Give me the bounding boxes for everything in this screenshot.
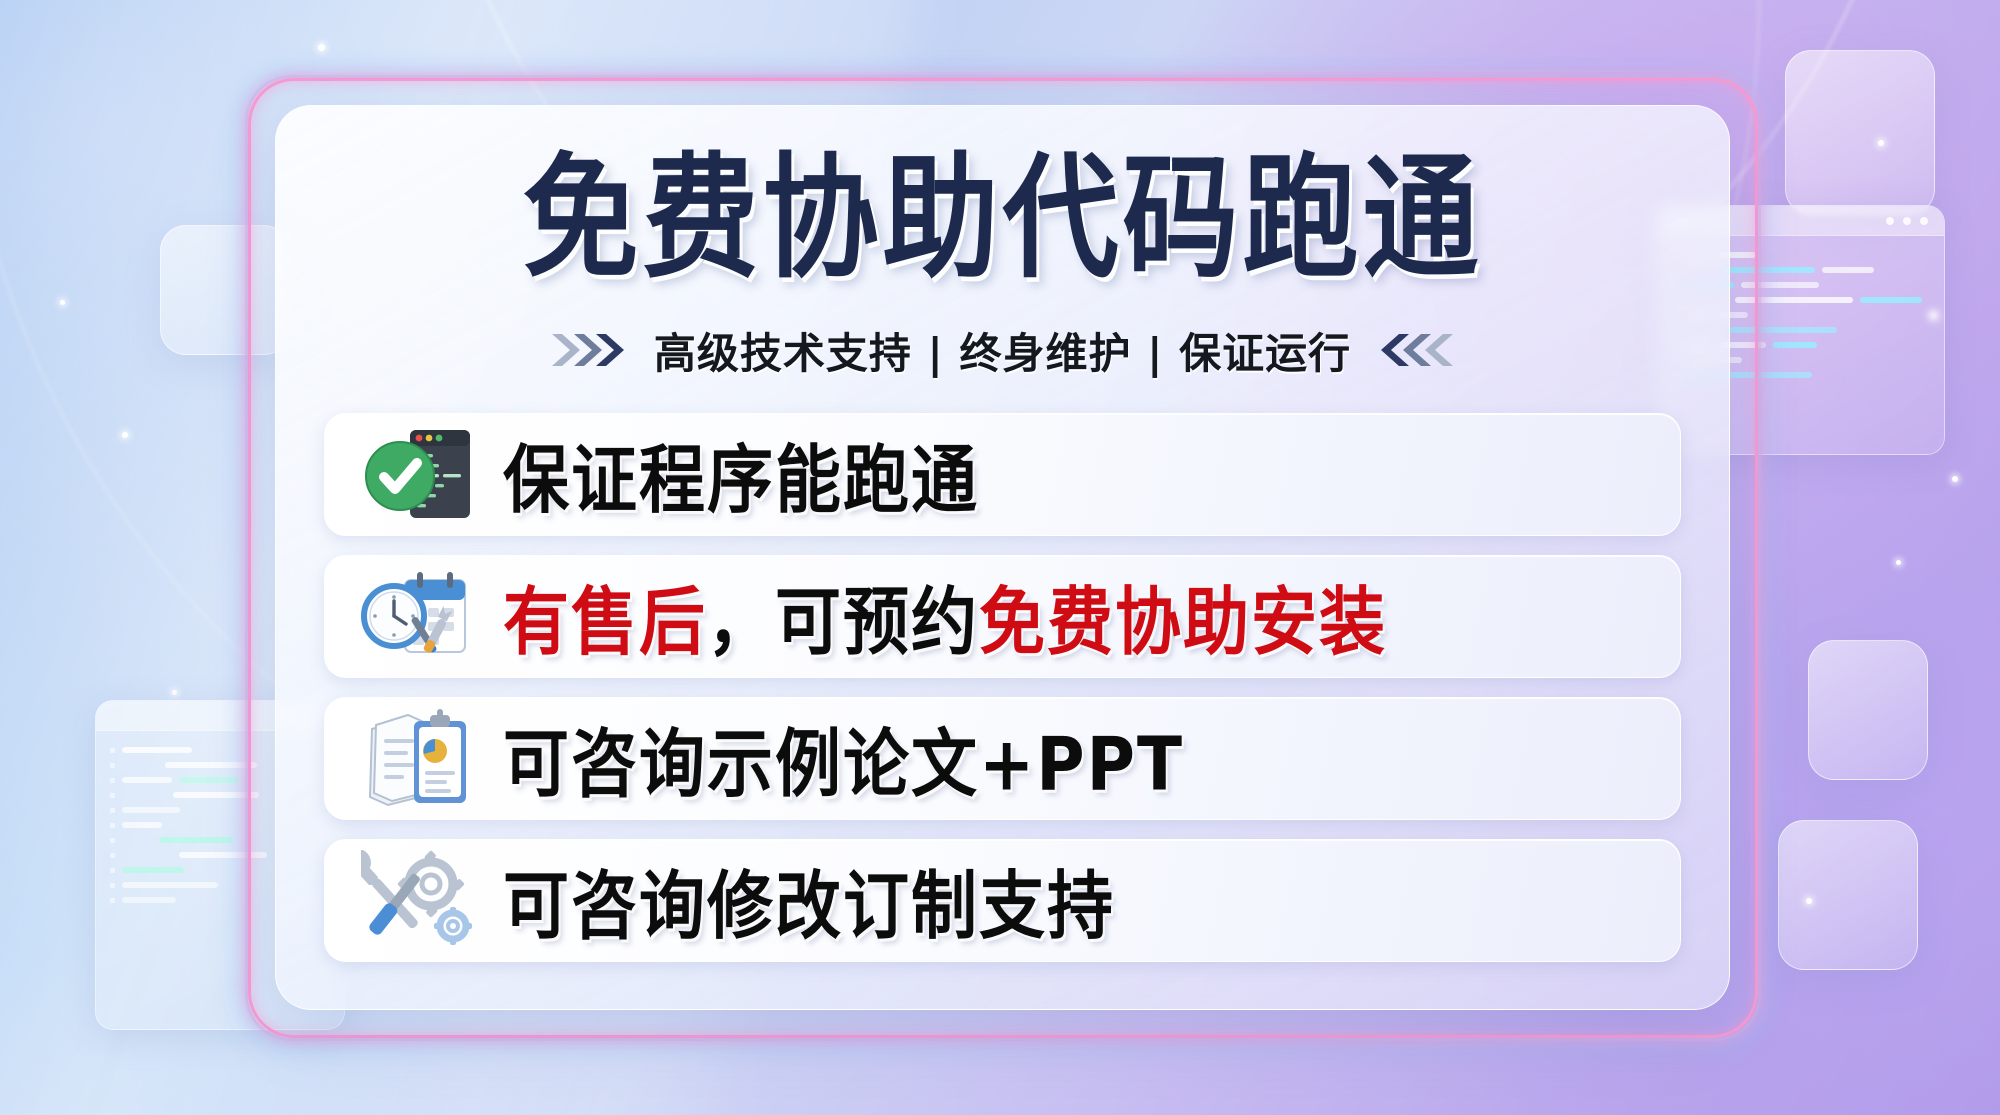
feature-card[interactable]: 保证程序能跑通 <box>324 413 1681 536</box>
documents-clipboard-chart-icon <box>359 707 477 809</box>
sparkle-icon <box>122 432 128 438</box>
sparkle-icon <box>1896 560 1901 565</box>
decor-glass-square <box>1785 50 1935 215</box>
wrench-screwdriver-gears-icon <box>359 850 477 950</box>
clock-calendar-tools-icon <box>359 566 477 666</box>
feature-text: 有售后，可预约免费协助安装 <box>503 563 1387 671</box>
sparkle-icon <box>1952 476 1958 482</box>
feature-text: 保证程序能跑通 <box>503 421 979 529</box>
decor-glass-square <box>1778 820 1918 970</box>
feature-card[interactable]: 可咨询修改订制支持 <box>324 839 1681 962</box>
feature-card-list: 保证程序能跑通 <box>324 413 1681 962</box>
decor-glass-square <box>1808 640 1928 780</box>
page-title: 免费协助代码跑通 <box>324 144 1681 295</box>
double-chevron-left-icon <box>1373 330 1457 370</box>
main-panel: 免费协助代码跑通 高级技术支持 | 终身维护 | 保证运行 <box>275 105 1730 1010</box>
sparkle-icon <box>60 300 65 305</box>
sparkle-icon <box>172 690 177 695</box>
feature-text: 可咨询示例论文+PPT <box>503 705 1184 813</box>
feature-card[interactable]: 可咨询示例论文+PPT <box>324 697 1681 820</box>
feature-text: 可咨询修改订制支持 <box>503 847 1115 955</box>
sparkle-icon <box>318 44 325 51</box>
feature-card[interactable]: 有售后，可预约免费协助安装 <box>324 555 1681 678</box>
subtitle-text: 高级技术支持 | 终身维护 | 保证运行 <box>654 320 1351 381</box>
subtitle-row: 高级技术支持 | 终身维护 | 保证运行 <box>324 320 1681 381</box>
double-chevron-right-icon <box>548 330 632 370</box>
green-check-terminal-icon <box>359 424 477 524</box>
